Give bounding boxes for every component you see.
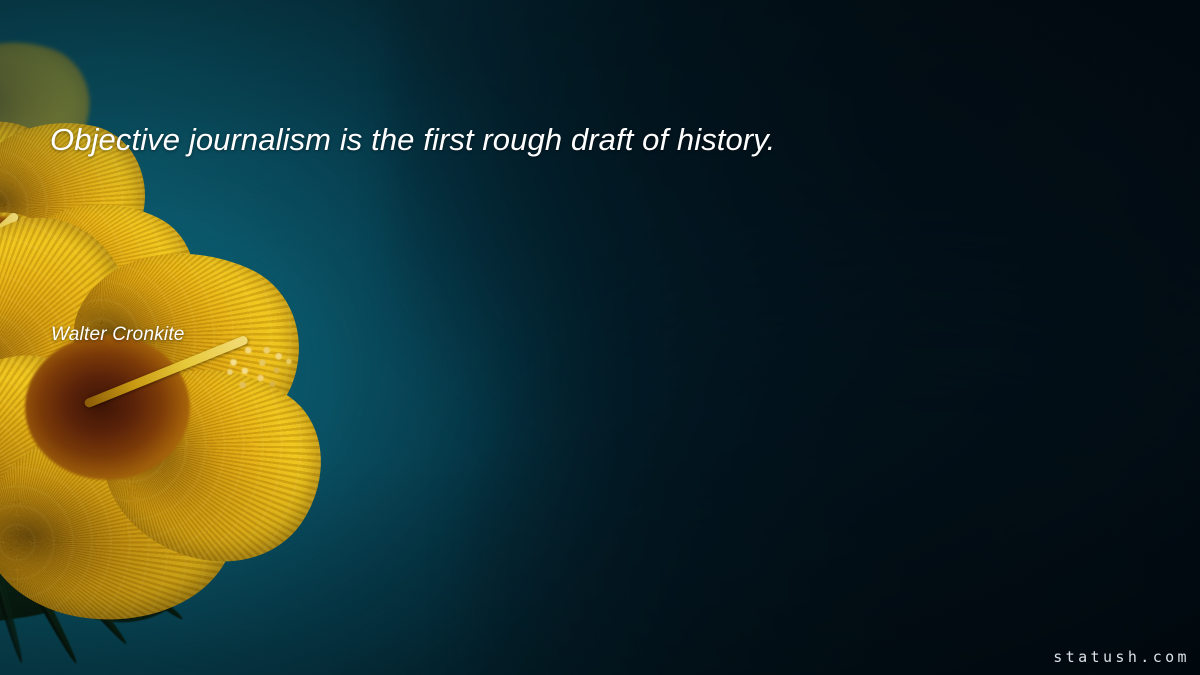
quote-author: Walter Cronkite (51, 324, 185, 346)
quote-text: Objective journalism is the first rough … (50, 120, 950, 160)
watermark-statush: statush.com (1053, 648, 1190, 666)
quote-card: Objective journalism is the first rough … (0, 0, 1200, 675)
